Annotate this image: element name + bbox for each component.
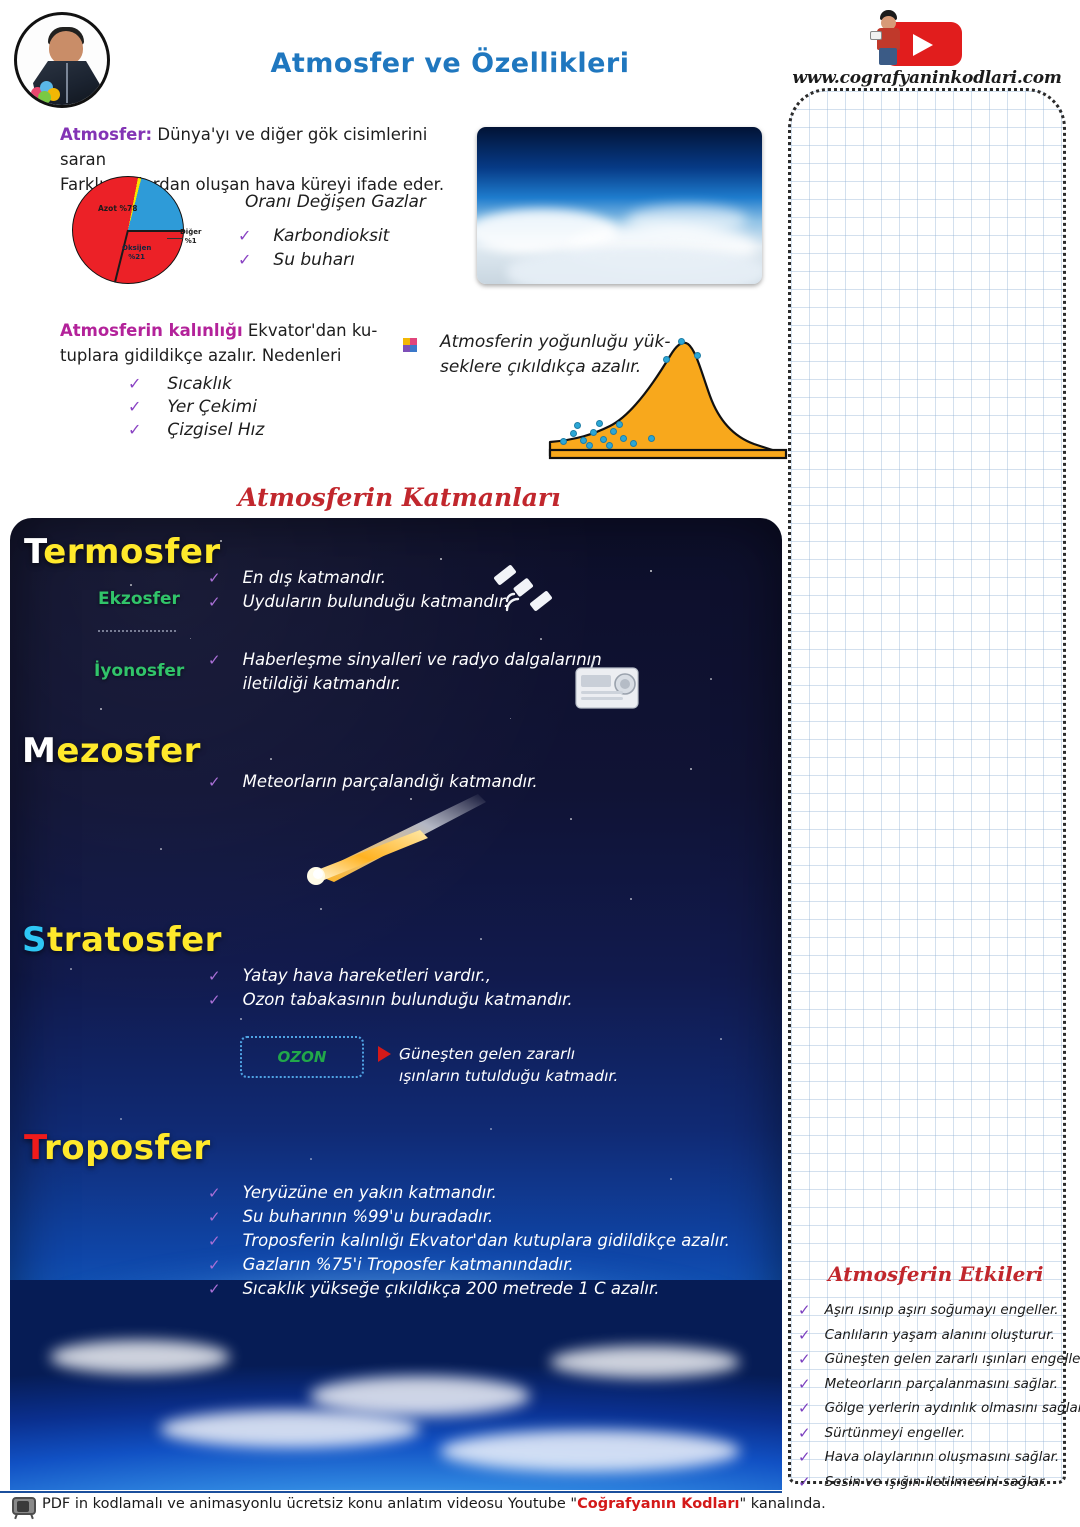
layer-heading-troposfer: Troposfer <box>24 1128 211 1168</box>
layer-heading-stratosfer: Stratosfer <box>22 920 222 960</box>
list-item: ✓Gölge yerlerin aydınlık olmasını sağlar… <box>798 1398 1066 1419</box>
list-item: ✓Çizgisel Hız <box>128 420 400 440</box>
atmosfer-keyword: Atmosfer: <box>60 125 152 144</box>
footer-text-after: " kanalında. <box>739 1496 825 1512</box>
profile-avatar <box>14 12 110 108</box>
pie-divider-2 <box>127 230 183 232</box>
thickness-block: Atmosferin kalınlığı Ekvator'dan ku- tup… <box>60 318 400 443</box>
check-icon: ✓ <box>208 1205 221 1229</box>
list-item: ✓Aşırı ısınıp aşırı soğumayı engeller. <box>798 1300 1066 1321</box>
check-icon: ✓ <box>208 988 221 1012</box>
effects-list: ✓Aşırı ısınıp aşırı soğumayı engeller. ✓… <box>798 1300 1066 1496</box>
pie-label-oksijen: Oksijen %21 <box>122 244 151 262</box>
check-icon: ✓ <box>798 1349 811 1370</box>
list-item: ✓Güneşten gelen zararlı ışınları engelle… <box>798 1349 1066 1370</box>
list-item: ✓Uyduların bulunduğu katmandır. <box>208 590 509 614</box>
intro-line-1: Atmosfer: Dünya'yı ve diğer gök cisimler… <box>60 122 470 172</box>
list-item: ✓Canlıların yaşam alanını oluşturur. <box>798 1325 1066 1346</box>
radio-icon <box>572 658 642 712</box>
effects-title: Atmosferin Etkileri <box>828 1262 1044 1286</box>
infographic-page: Atmosfer ve Özellikleri www.cografyanink… <box>0 0 1080 1527</box>
earth-horizon-image <box>10 1280 782 1490</box>
thickness-keyword: Atmosferin kalınlığı <box>60 321 243 340</box>
sublayer-heading-ekzosfer: Ekzosfer <box>98 589 180 609</box>
gas-composition-pie-chart: Azot %78 Oksijen %21 Diğer %1 <box>72 176 194 288</box>
meteor-icon <box>300 790 490 890</box>
list-item: ✓Yatay hava hareketleri vardır., <box>208 964 573 988</box>
stratosfer-bullets: ✓Yatay hava hareketleri vardır., ✓Ozon t… <box>208 964 573 1012</box>
check-icon: ✓ <box>208 964 221 988</box>
list-item: ✓Troposferin kalınlığı Ekvator'dan kutup… <box>208 1229 730 1253</box>
check-icon: ✓ <box>208 1181 221 1205</box>
check-icon: ✓ <box>128 376 141 392</box>
avatar-face <box>49 31 83 65</box>
check-icon: ✓ <box>128 422 141 438</box>
troposfer-bullets: ✓Yeryüzüne en yakın katmandır. ✓Su buhar… <box>208 1181 730 1301</box>
avatar-globe-icon <box>31 81 61 103</box>
ozon-box: OZON <box>240 1036 364 1078</box>
check-icon: ✓ <box>798 1447 811 1468</box>
check-icon: ✓ <box>238 252 251 268</box>
list-item: ✓Sürtünmeyi engeller. <box>798 1423 1066 1444</box>
list-item: ✓Sıcaklık yükseğe çıkıldıkça 200 metrede… <box>208 1277 730 1301</box>
check-icon: ✓ <box>798 1325 811 1346</box>
sublayer-heading-iyonosfer: İyonosfer <box>94 661 184 681</box>
arrow-right-icon <box>378 1046 391 1062</box>
mountain-density-diagram <box>548 330 788 460</box>
youtube-brand[interactable] <box>850 8 990 70</box>
footer-divider <box>0 1491 782 1493</box>
check-icon: ✓ <box>208 648 221 672</box>
layers-section-title: Atmosferin Katmanları <box>238 483 561 512</box>
pinwheel-bullet-icon <box>403 338 417 352</box>
atmosphere-photo <box>477 127 762 284</box>
variable-gases-list: ✓ Karbondioksit ✓ Su buharı <box>238 226 389 274</box>
list-item: ✓Sesin ve ışığın iletilmesini sağlar. <box>798 1472 1066 1493</box>
list-item: ✓Yer Çekimi <box>128 397 400 417</box>
avatar-zipper <box>66 63 68 103</box>
mascot-icon <box>870 8 910 66</box>
list-item: ✓Sıcaklık <box>128 374 400 394</box>
ekzosfer-bullets: ✓En dış katmandır. ✓Uyduların bulunduğu … <box>208 566 509 614</box>
footer-text-before: PDF in kodlamalı ve animasyonlu ücretsiz… <box>42 1496 577 1512</box>
list-item: ✓Gazların %75'i Troposfer katmanındadır. <box>208 1253 730 1277</box>
thickness-line-2: tuplara gidildikçe azalır. Nedenleri <box>60 343 400 368</box>
ozon-label: OZON <box>278 1048 327 1066</box>
thickness-reasons-list: ✓Sıcaklık ✓Yer Çekimi ✓Çizgisel Hız <box>128 374 400 440</box>
check-icon: ✓ <box>128 399 141 415</box>
list-item: ✓Haberleşme sinyalleri ve radyo dalgalar… <box>208 648 602 696</box>
iyonosfer-bullets: ✓Haberleşme sinyalleri ve radyo dalgalar… <box>208 648 602 696</box>
check-icon: ✓ <box>208 566 221 590</box>
variable-gases-title: Oranı Değişen Gazlar <box>245 192 426 212</box>
list-item: ✓Hava olaylarının oluşmasını sağlar. <box>798 1447 1066 1468</box>
list-item: ✓ Su buharı <box>238 250 389 270</box>
check-icon: ✓ <box>798 1472 811 1493</box>
list-item: ✓ Karbondioksit <box>238 226 389 246</box>
thickness-line-1: Atmosferin kalınlığı Ekvator'dan ku- <box>60 318 400 343</box>
television-icon <box>12 1494 36 1518</box>
atmosphere-layers-panel: Termosfer Ekzosfer ✓En dış katmandır. ✓U… <box>10 518 782 1490</box>
check-icon: ✓ <box>208 1253 221 1277</box>
check-icon: ✓ <box>798 1423 811 1444</box>
check-icon: ✓ <box>238 228 251 244</box>
layer-heading-termosfer: Termosfer <box>24 532 221 572</box>
site-url[interactable]: www.cografyaninkodlari.com <box>792 68 1062 88</box>
check-icon: ✓ <box>208 770 221 794</box>
footer-note: PDF in kodlamalı ve animasyonlu ücretsiz… <box>42 1496 826 1512</box>
page-title: Atmosfer ve Özellikleri <box>250 48 650 79</box>
check-icon: ✓ <box>208 1277 221 1301</box>
check-icon: ✓ <box>798 1398 811 1419</box>
channel-name: Coğrafyanın Kodları <box>577 1496 739 1512</box>
check-icon: ✓ <box>208 1229 221 1253</box>
list-item: ✓En dış katmandır. <box>208 566 509 590</box>
satellite-icon <box>492 562 554 624</box>
list-item: ✓Yeryüzüne en yakın katmandır. <box>208 1181 730 1205</box>
check-icon: ✓ <box>208 590 221 614</box>
sublayer-divider <box>98 630 176 632</box>
list-item: ✓Su buharının %99'u buradadır. <box>208 1205 730 1229</box>
check-icon: ✓ <box>798 1374 811 1395</box>
thickness-text-1: Ekvator'dan ku- <box>243 321 378 340</box>
layer-heading-mezosfer: Mezosfer <box>22 731 201 771</box>
ozon-note: Güneşten gelen zararlı ışınların tutuldu… <box>399 1043 619 1087</box>
check-icon: ✓ <box>798 1300 811 1321</box>
list-item: ✓Ozon tabakasının bulunduğu katmandır. <box>208 988 573 1012</box>
list-item: ✓Meteorların parçalanmasını sağlar. <box>798 1374 1066 1395</box>
pie-label-azot: Azot %78 <box>98 204 137 213</box>
pie-label-diger: Diğer %1 <box>180 228 201 246</box>
